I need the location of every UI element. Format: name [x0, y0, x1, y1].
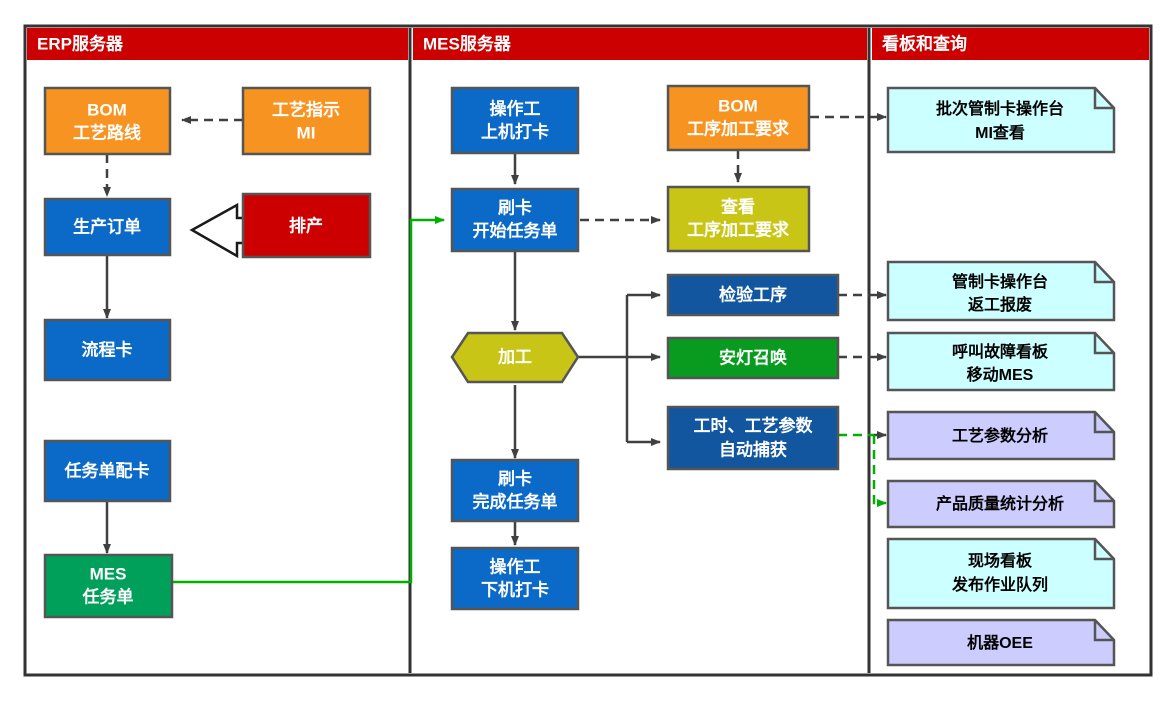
- node-param-analysis-label: 工艺参数分析: [952, 426, 1048, 445]
- node-operator-out-line1: 操作工: [490, 556, 541, 576]
- node-quality-stats-label: 产品质量统计分析: [936, 494, 1064, 513]
- node-bom-route-line1: BOM: [87, 100, 127, 119]
- node-bom-op-req[interactable]: BOM 工序加工要求: [668, 86, 809, 150]
- node-site-board[interactable]: 现场看板 发布作业队列: [888, 539, 1114, 608]
- node-batch-mi-view-line1: 批次管制卡操作台: [936, 99, 1064, 118]
- node-bom-op-req-line1: BOM: [718, 96, 758, 115]
- node-swipe-start-line2: 开始任务单: [473, 220, 558, 240]
- node-scheduling-label: 排产: [289, 215, 323, 235]
- node-prod-order-label: 生产订单: [73, 216, 141, 236]
- node-andon-call-label: 安灯召唤: [719, 347, 787, 367]
- node-auto-capture-line1: 工时、工艺参数: [694, 415, 814, 435]
- node-inspect-op[interactable]: 检验工序: [668, 275, 838, 315]
- swimlane-title-board: 看板和查询: [881, 33, 967, 53]
- node-card-rework[interactable]: 管制卡操作台 返工报废: [888, 262, 1114, 320]
- node-fault-board-line2: 移动MES: [967, 365, 1034, 384]
- node-mi-line2: MI: [297, 123, 316, 142]
- node-batch-mi-view[interactable]: 批次管制卡操作台 MI查看: [888, 88, 1114, 152]
- node-bom-route-line2: 工艺路线: [73, 122, 141, 142]
- node-bom-route[interactable]: BOM 工艺路线: [45, 88, 170, 154]
- node-machining-label: 加工: [497, 347, 532, 366]
- node-swipe-finish[interactable]: 刷卡 完成任务单: [452, 460, 578, 521]
- node-auto-capture[interactable]: 工时、工艺参数 自动捕获: [668, 407, 838, 469]
- node-swipe-finish-line1: 刷卡: [498, 468, 532, 488]
- node-swipe-finish-line2: 完成任务单: [473, 491, 558, 511]
- node-task-card-match-label: 任务单配卡: [64, 460, 150, 480]
- node-mi-instruction[interactable]: 工艺指示 MI: [243, 88, 370, 154]
- node-view-op-req[interactable]: 查看 工序加工要求: [668, 187, 809, 251]
- node-swipe-start[interactable]: 刷卡 开始任务单: [452, 189, 578, 251]
- node-scheduling[interactable]: 排产: [243, 194, 370, 257]
- node-prod-order[interactable]: 生产订单: [45, 199, 170, 255]
- node-operator-in-line1: 操作工: [490, 98, 541, 118]
- swimlane-title-erp: ERP服务器: [37, 33, 124, 53]
- flowchart-svg: ERP服务器 MES服务器 看板和查询: [0, 0, 1176, 701]
- node-mes-task-line2: 任务单: [82, 586, 134, 606]
- node-operator-out[interactable]: 操作工 下机打卡: [452, 548, 578, 609]
- flowchart-canvas: ERP服务器 MES服务器 看板和查询: [0, 0, 1176, 701]
- node-batch-mi-view-line2: MI查看: [975, 123, 1025, 142]
- node-machine-oee[interactable]: 机器OEE: [888, 620, 1114, 665]
- node-card-rework-line2: 返工报废: [968, 295, 1032, 314]
- node-machining[interactable]: 加工: [452, 333, 578, 382]
- node-site-board-line2: 发布作业队列: [951, 575, 1048, 594]
- node-auto-capture-line2: 自动捕获: [719, 439, 787, 459]
- node-view-op-req-line1: 查看: [720, 196, 755, 216]
- node-card-rework-line1: 管制卡操作台: [952, 272, 1048, 291]
- node-mes-task-line1: MES: [90, 564, 127, 583]
- node-view-op-req-line2: 工序加工要求: [687, 219, 789, 239]
- node-mi-line1: 工艺指示: [272, 99, 340, 119]
- node-andon-call[interactable]: 安灯召唤: [668, 338, 838, 378]
- node-mes-task[interactable]: MES 任务单: [45, 555, 172, 617]
- node-process-card[interactable]: 流程卡: [45, 320, 170, 380]
- node-operator-in[interactable]: 操作工 上机打卡: [452, 88, 578, 153]
- node-quality-stats[interactable]: 产品质量统计分析: [888, 481, 1114, 527]
- node-machine-oee-label: 机器OEE: [967, 633, 1033, 652]
- node-fault-board[interactable]: 呼叫故障看板 移动MES: [888, 333, 1114, 390]
- node-fault-board-line1: 呼叫故障看板: [952, 342, 1049, 361]
- node-process-card-label: 流程卡: [82, 339, 133, 359]
- node-task-card-match[interactable]: 任务单配卡: [45, 441, 170, 501]
- node-inspect-op-label: 检验工序: [719, 284, 787, 304]
- node-param-analysis[interactable]: 工艺参数分析: [888, 412, 1114, 459]
- node-operator-in-line2: 上机打卡: [481, 121, 549, 141]
- node-site-board-line1: 现场看板: [968, 551, 1033, 570]
- node-swipe-start-line1: 刷卡: [498, 197, 532, 217]
- swimlane-title-mes: MES服务器: [423, 33, 512, 53]
- node-bom-op-req-line2: 工序加工要求: [687, 118, 789, 138]
- node-operator-out-line2: 下机打卡: [481, 579, 549, 599]
